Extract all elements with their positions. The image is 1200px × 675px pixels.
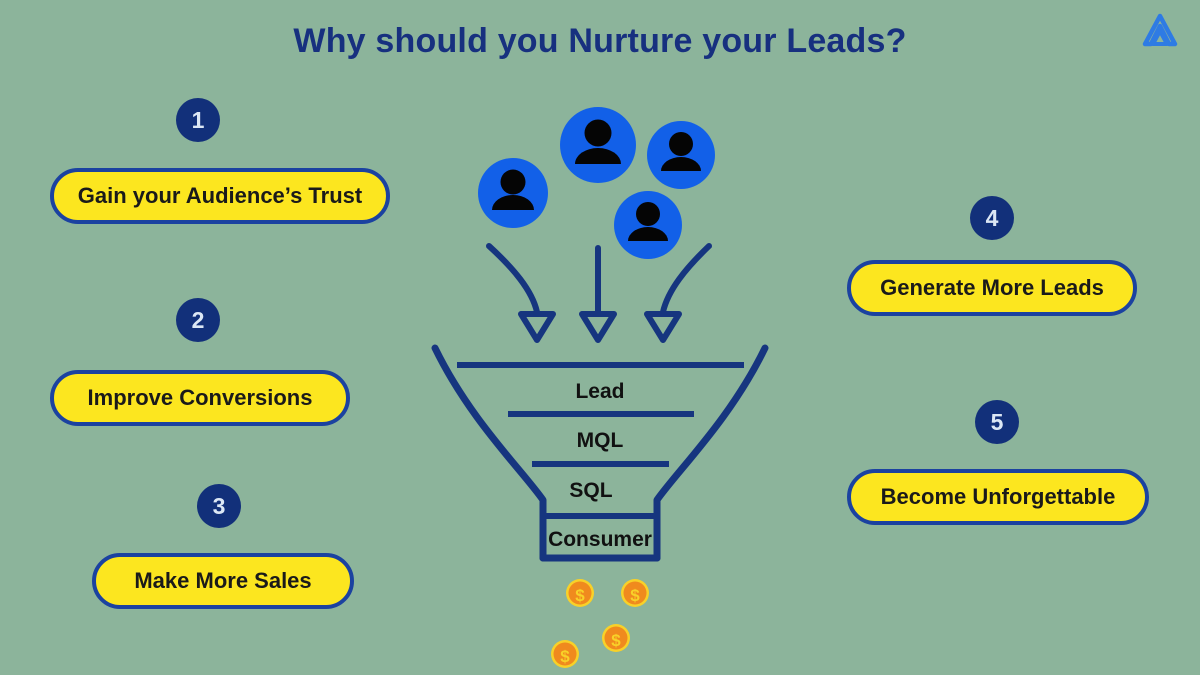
infographic-slide: Why should you Nurture your Leads? 1 Gai… xyxy=(0,0,1200,675)
dollar-coin-icon-3: $ xyxy=(602,624,630,652)
step-number-badge-1: 1 xyxy=(176,98,220,142)
person-icon-2 xyxy=(560,107,636,183)
step-label-3[interactable]: Make More Sales xyxy=(92,553,354,609)
funnel-stage-lead: Lead xyxy=(500,380,700,404)
step-number-badge-2: 2 xyxy=(176,298,220,342)
dollar-coin-icon-4: $ xyxy=(551,640,579,668)
person-icon-3 xyxy=(647,121,715,189)
step-label-2[interactable]: Improve Conversions xyxy=(50,370,350,426)
person-icon-1 xyxy=(478,158,548,228)
dollar-coin-icon-2: $ xyxy=(621,579,649,607)
dollar-coin-icon-1: $ xyxy=(566,579,594,607)
funnel-stage-consumer: Consumer xyxy=(500,528,700,552)
step-label-1[interactable]: Gain your Audience’s Trust xyxy=(50,168,390,224)
down-arrow-icon-center xyxy=(582,248,614,340)
svg-text:$: $ xyxy=(575,586,585,605)
person-icon-4 xyxy=(614,191,682,259)
funnel-stage-sql: SQL xyxy=(500,479,682,503)
step-label-4[interactable]: Generate More Leads xyxy=(847,260,1137,316)
step-number-badge-5: 5 xyxy=(975,400,1019,444)
funnel-stage-mql: MQL xyxy=(500,429,700,453)
svg-text:$: $ xyxy=(630,586,640,605)
down-arrow-icon-right xyxy=(647,246,709,340)
svg-text:$: $ xyxy=(611,631,621,650)
step-label-5[interactable]: Become Unforgettable xyxy=(847,469,1149,525)
mountain-m-logo-icon xyxy=(1138,10,1182,54)
svg-text:$: $ xyxy=(560,647,570,666)
down-arrow-icon-left xyxy=(489,246,553,340)
step-number-badge-3: 3 xyxy=(197,484,241,528)
step-number-badge-4: 4 xyxy=(970,196,1014,240)
page-title: Why should you Nurture your Leads? xyxy=(0,22,1200,61)
